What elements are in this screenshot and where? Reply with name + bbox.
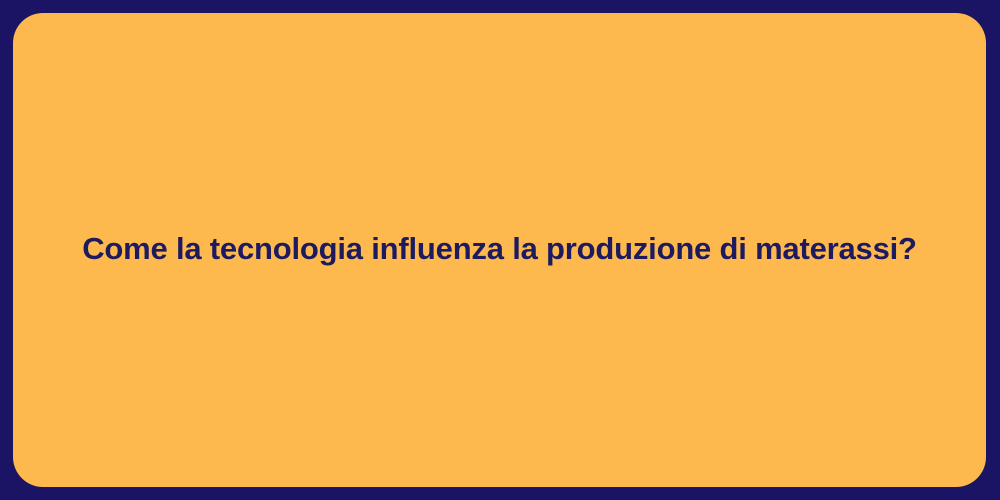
card-panel: Come la tecnologia influenza la produzio…	[13, 13, 986, 487]
page-title: Come la tecnologia influenza la produzio…	[82, 230, 917, 269]
card-outer-frame: Come la tecnologia influenza la produzio…	[0, 0, 1000, 500]
headline-container: Come la tecnologia influenza la produzio…	[13, 230, 986, 269]
